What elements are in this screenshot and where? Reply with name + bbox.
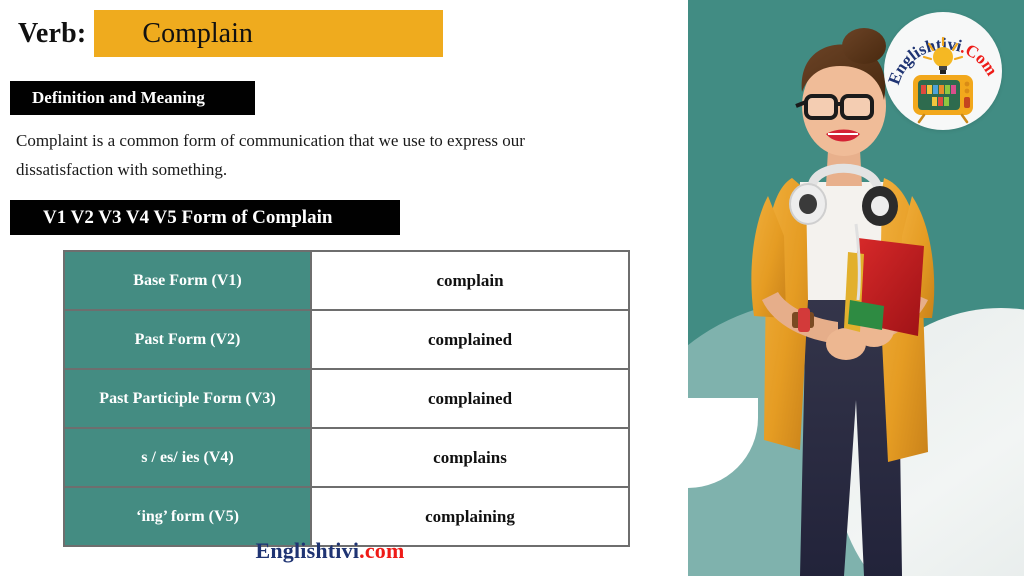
form-value-cell: complains xyxy=(311,428,629,487)
slide-canvas: Englishtivi.Com xyxy=(0,0,1024,576)
verb-forms-table: Base Form (V1) complain Past Form (V2) c… xyxy=(63,250,630,547)
tv-leg-right xyxy=(962,115,967,122)
form-label-cell: Past Form (V2) xyxy=(64,310,311,369)
englishtivi-logo-badge[interactable]: Englishtivi.Com xyxy=(884,12,1002,130)
logo-tld-text: .Com xyxy=(959,38,1002,79)
eyeglasses-right-lens xyxy=(842,96,872,118)
form-value-cell: complained xyxy=(311,310,629,369)
form-label-cell: s / es/ ies (V4) xyxy=(64,428,311,487)
table-row: Past Participle Form (V3) complained xyxy=(64,369,629,428)
verb-header-row: Verb: Complain xyxy=(18,10,443,57)
verb-label: Verb: xyxy=(18,18,86,50)
lightbulb-icon xyxy=(933,47,953,67)
form-value-cell: complain xyxy=(311,251,629,310)
form-value-cell: complained xyxy=(311,369,629,428)
footer-brand-name: Englishtivi xyxy=(255,538,359,563)
footer-brand: Englishtivi.com xyxy=(0,538,660,564)
hair-bun xyxy=(842,28,886,64)
table-row: s / es/ ies (V4) complains xyxy=(64,428,629,487)
verb-word-chip: Complain xyxy=(94,10,443,57)
table-row: Past Form (V2) complained xyxy=(64,310,629,369)
form-label-cell: Base Form (V1) xyxy=(64,251,311,310)
definition-paragraph: Complaint is a common form of communicat… xyxy=(16,126,616,184)
tv-leg-left xyxy=(919,115,924,122)
eyeglasses-left-lens xyxy=(806,96,836,118)
form-label-cell: Past Participle Form (V3) xyxy=(64,369,311,428)
verb-word: Complain xyxy=(142,20,252,48)
footer-brand-tld: .com xyxy=(359,538,404,563)
forms-section-heading: V1 V2 V3 V4 V5 Form of Complain xyxy=(10,200,400,235)
table-row: Base Form (V1) complain xyxy=(64,251,629,310)
verb-forms-table-body: Base Form (V1) complain Past Form (V2) c… xyxy=(64,251,629,546)
definition-section-heading: Definition and Meaning xyxy=(10,81,255,115)
